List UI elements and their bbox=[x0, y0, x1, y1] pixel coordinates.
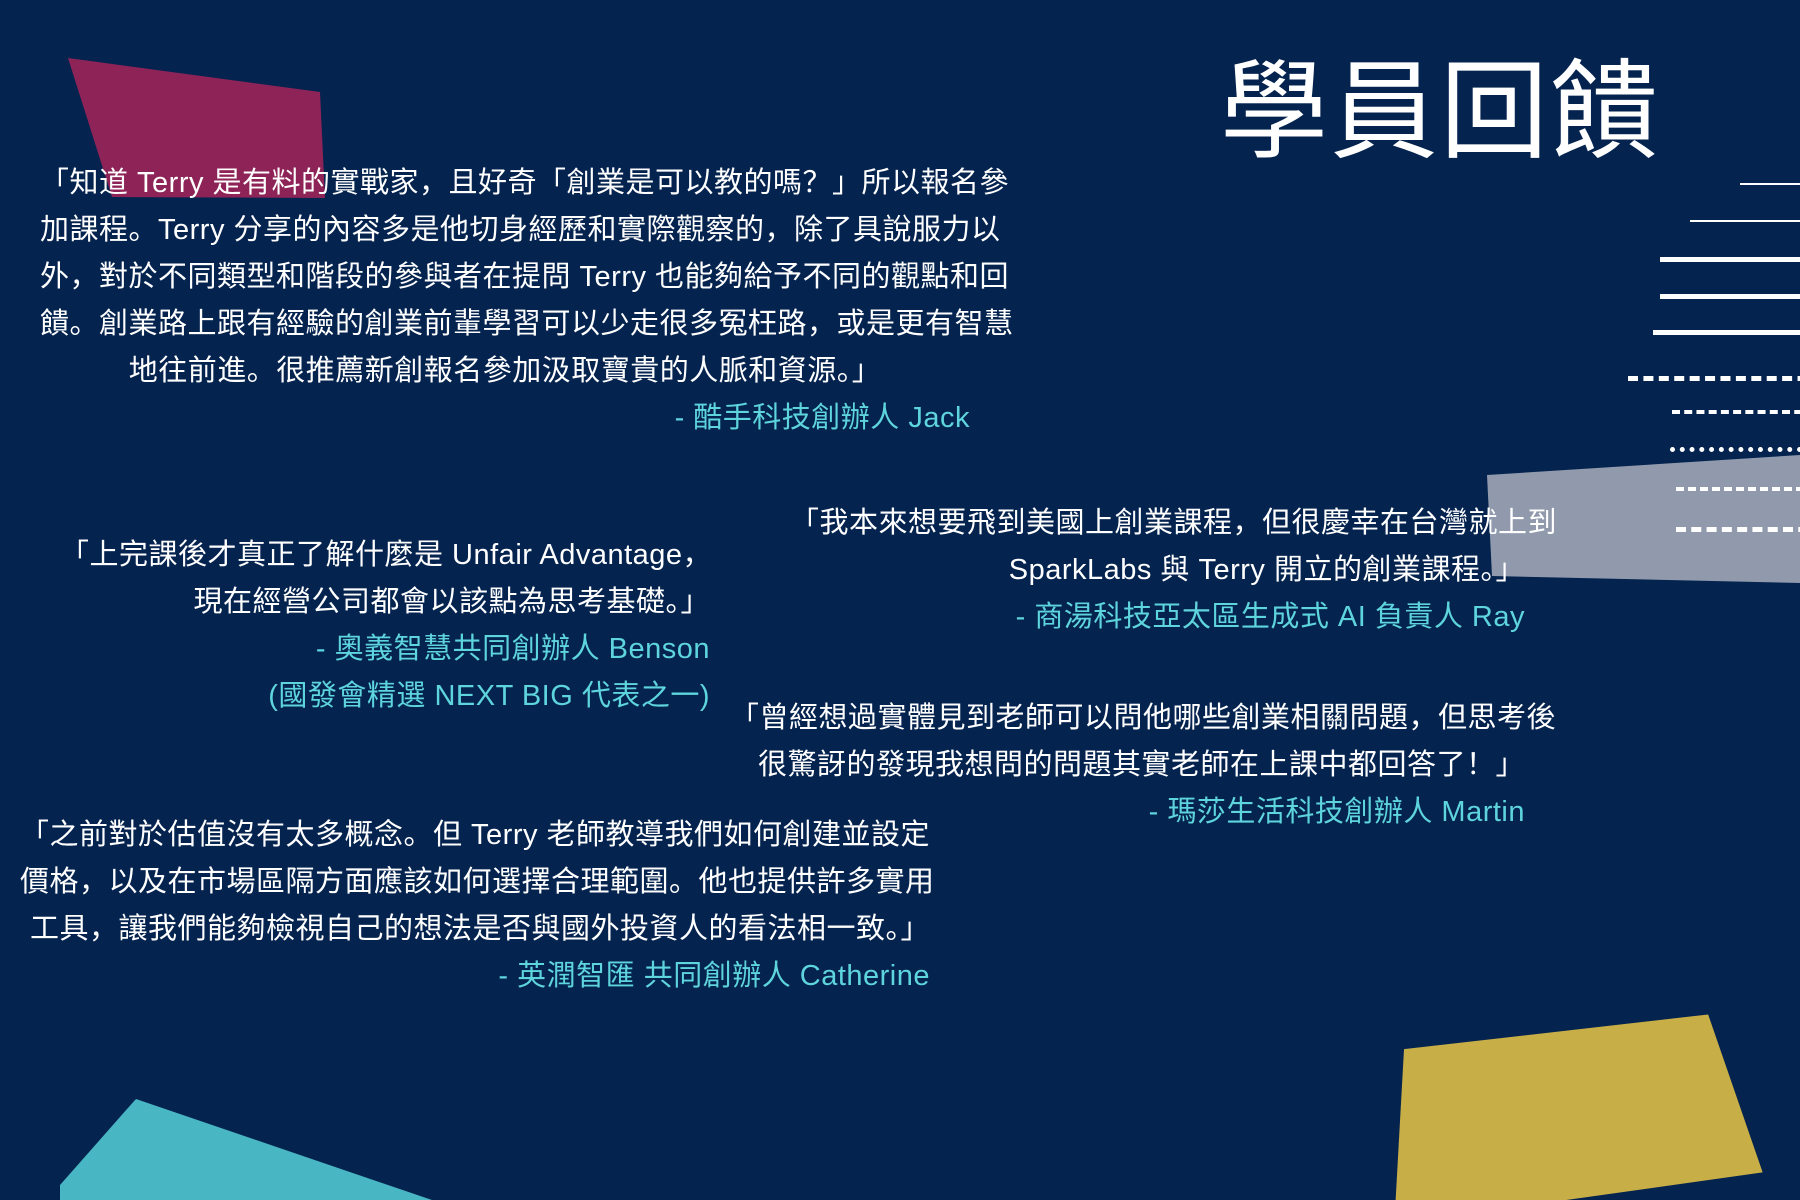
quote-line: 很驚訝的發現我想問的問題其實老師在上課中都回答了！」 bbox=[730, 742, 1525, 789]
decor-solid-line-5 bbox=[1653, 330, 1800, 335]
page-title: 學員回饋 bbox=[1220, 58, 1660, 166]
quote-attribution: - 英潤智匯 共同創辦人 Catherine bbox=[20, 953, 930, 1000]
quote-attribution: - 奧義智慧共同創辦人 Benson bbox=[60, 626, 710, 673]
testimonial-martin: 「曾經想過實體見到老師可以問他哪些創業相關問題，但思考後 很驚訝的發現我想問的問… bbox=[730, 695, 1525, 836]
decor-dashed-line-2 bbox=[1672, 410, 1800, 414]
yellow-quad-shape bbox=[1370, 1002, 1762, 1200]
quote-line: 加課程。Terry 分享的內容多是他切身經歷和實際觀察的，除了具說服力以 bbox=[40, 207, 970, 254]
testimonial-benson: 「上完課後才真正了解什麼是 Unfair Advantage， 現在經營公司都會… bbox=[60, 532, 710, 720]
quote-line: 外，對於不同類型和階段的參與者在提問 Terry 也能夠給予不同的觀點和回 bbox=[40, 254, 970, 301]
decor-solid-line-1 bbox=[1740, 183, 1800, 185]
quote-attribution: - 商湯科技亞太區生成式 AI 負責人 Ray bbox=[790, 594, 1525, 641]
decor-dashed-line-3 bbox=[1676, 487, 1800, 491]
decor-dashed-line-1 bbox=[1628, 376, 1800, 381]
testimonial-jack: 「知道 Terry 是有料的實戰家，且好奇「創業是可以教的嗎？」所以報名參 加課… bbox=[40, 160, 970, 442]
quote-attribution: - 酷手科技創辦人 Jack bbox=[40, 395, 970, 442]
testimonial-catherine: 「之前對於估值沒有太多概念。但 Terry 老師教導我們如何創建並設定 價格，以… bbox=[20, 812, 930, 1000]
quote-line: 「知道 Terry 是有料的實戰家，且好奇「創業是可以教的嗎？」所以報名參 bbox=[40, 160, 970, 207]
decor-solid-line-3 bbox=[1660, 257, 1800, 262]
quote-line: 價格，以及在市場區隔方面應該如何選擇合理範圍。他也提供許多實用 bbox=[20, 859, 930, 906]
quote-line: 工具，讓我們能夠檢視自己的想法是否與國外投資人的看法相一致。」 bbox=[20, 906, 930, 953]
teal-quad-shape-2 bbox=[62, 1099, 432, 1200]
quote-line: 「我本來想要飛到美國上創業課程，但很慶幸在台灣就上到 bbox=[790, 500, 1525, 547]
quote-line: 地往前進。很推薦新創報名參加汲取寶貴的人脈和資源。」 bbox=[40, 348, 970, 395]
decor-dashed-line-4 bbox=[1676, 527, 1800, 532]
teal-quad-shape bbox=[60, 1100, 430, 1200]
decor-solid-line-4 bbox=[1660, 294, 1800, 299]
quote-line: 饋。創業路上跟有經驗的創業前輩學習可以少走很多冤枉路，或是更有智慧 bbox=[40, 301, 970, 348]
decor-dotted-line-1 bbox=[1670, 447, 1800, 452]
slide-canvas: 學員回饋 「知道 Terry 是有料的實戰家，且好奇「創業是可以教的嗎？」所以報… bbox=[0, 0, 1800, 1200]
quote-line: 「曾經想過實體見到老師可以問他哪些創業相關問題，但思考後 bbox=[730, 695, 1525, 742]
quote-line: 「上完課後才真正了解什麼是 Unfair Advantage， bbox=[60, 532, 710, 579]
testimonial-ray: 「我本來想要飛到美國上創業課程，但很慶幸在台灣就上到 SparkLabs 與 T… bbox=[790, 500, 1525, 641]
quote-attribution-note: (國發會精選 NEXT BIG 代表之一) bbox=[60, 673, 710, 720]
quote-line: 現在經營公司都會以該點為思考基礎。」 bbox=[60, 579, 710, 626]
quote-attribution: - 瑪莎生活科技創辦人 Martin bbox=[730, 789, 1525, 836]
decor-solid-line-2 bbox=[1690, 220, 1800, 222]
quote-line: SparkLabs 與 Terry 開立的創業課程。」 bbox=[790, 547, 1525, 594]
